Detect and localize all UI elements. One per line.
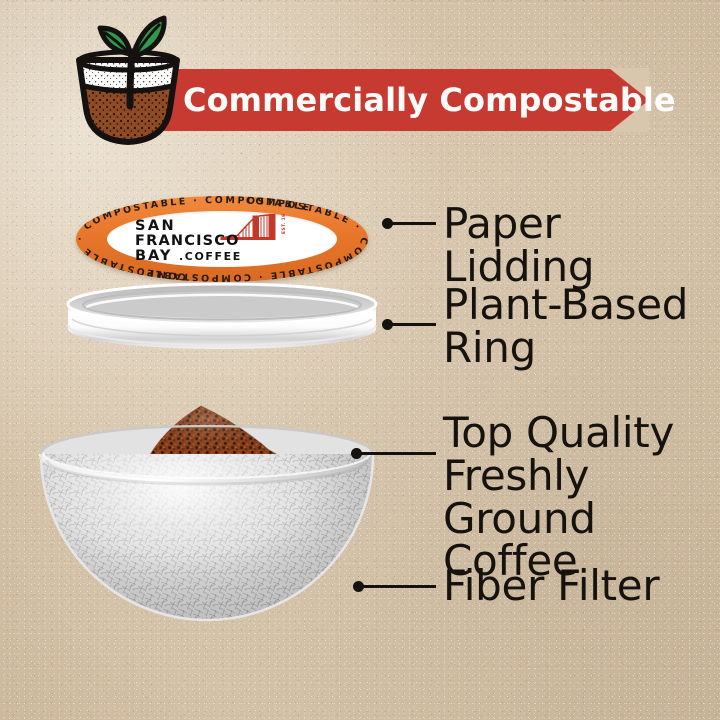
callout-plant-based-ring: Plant-Based Ring [443,284,688,370]
leader-stroke [387,222,436,225]
leader-line-plant-based-ring [382,323,436,326]
infographic-canvas: Commercially Compostable [0,0,720,720]
leader-stroke [387,323,436,326]
callout-paper-lidding: Paper Lidding [443,203,720,289]
leader-stroke [356,452,436,455]
leader-line-fiber-filter [353,585,436,588]
seedling-in-pot-icon [70,14,186,146]
leader-line-top-quality-coffee [351,452,436,455]
svg-text:EST. 1979: EST. 1979 [281,214,287,234]
leader-stroke [358,585,436,588]
brand-line-coffee: .COFFEE [179,250,242,263]
san-francisco-bay-coffee-logo: EST. 1979 SAN FRANCISCO BAY .COFFEE [133,214,311,264]
brand-line-bay: BAY [135,248,172,264]
brand-line-san: SAN [135,218,176,234]
compostable-banner: Commercially Compostable [155,69,648,131]
fiber-filter-with-coffee [33,392,381,640]
callout-fiber-filter: Fiber Filter [443,565,659,608]
leader-line-paper-lidding [382,222,436,225]
plant-based-ring [66,281,378,367]
brand-line-francisco: FRANCISCO [135,233,240,249]
callout-top-quality-coffee: Top Quality Freshly Ground Coffee [443,412,720,583]
banner-label: Commercially Compostable [183,69,676,131]
paper-lid: COMPOSTABLE · COMPOSTABLE · COMPOSTABLE … [76,196,368,282]
